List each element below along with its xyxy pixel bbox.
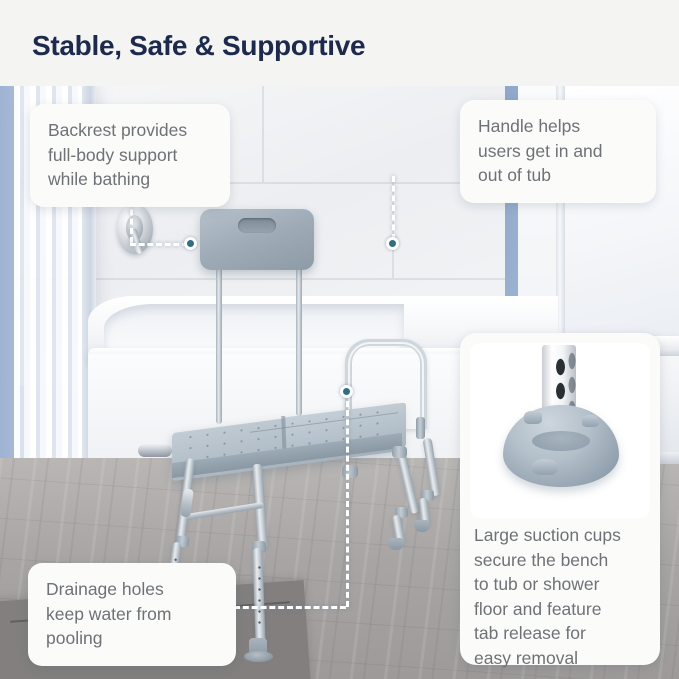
tile-seam bbox=[262, 86, 264, 182]
callout-suction-line-3: to tub or shower bbox=[474, 572, 650, 597]
callout-backrest[interactable]: Backrest provides full-body support whil… bbox=[30, 104, 230, 207]
callout-suction-line-5: tab release for bbox=[474, 621, 650, 646]
tub-overflow-plate bbox=[138, 444, 172, 457]
rubber-foot-pad bbox=[244, 651, 273, 662]
callout-handle-line-3: out of tub bbox=[478, 163, 638, 188]
marker-dot-handle bbox=[386, 237, 399, 250]
callout-drainage-line-1: Drainage holes bbox=[46, 577, 218, 602]
rubber-foot bbox=[414, 520, 430, 532]
callout-suction-line-6: easy removal bbox=[474, 646, 650, 671]
suction-cup-collar bbox=[532, 431, 590, 451]
suction-release-tab-right bbox=[582, 415, 599, 427]
marker-dot-drainage bbox=[340, 385, 353, 398]
callout-handle-line-2: users get in and bbox=[478, 139, 638, 164]
callout-backrest-line-1: Backrest provides bbox=[48, 118, 212, 143]
callout-suction-cups[interactable]: Large suction cups secure the bench to t… bbox=[460, 333, 660, 665]
leg-height-holes bbox=[257, 562, 261, 628]
connector-drainage-vertical bbox=[346, 392, 349, 607]
seat-mount-knob bbox=[342, 465, 358, 478]
infographic-page: Stable, Safe & Supportive bbox=[0, 0, 679, 679]
connector-backrest-horizontal bbox=[130, 243, 188, 246]
rubber-foot bbox=[388, 538, 404, 550]
callout-handle[interactable]: Handle helps users get in and out of tub bbox=[460, 100, 656, 203]
marker-dot-backrest bbox=[184, 237, 197, 250]
page-title: Stable, Safe & Supportive bbox=[32, 30, 365, 62]
connector-drainage-horizontal bbox=[234, 606, 346, 609]
header-band: Stable, Safe & Supportive bbox=[0, 0, 679, 86]
callout-drainage-line-2: keep water from bbox=[46, 602, 218, 627]
handle-mount-right bbox=[416, 417, 425, 439]
callout-drainage[interactable]: Drainage holes keep water from pooling bbox=[28, 563, 236, 666]
leg-height-holes-secondary bbox=[567, 349, 576, 409]
connector-handle-vertical bbox=[392, 176, 395, 240]
callout-suction-line-2: secure the bench bbox=[474, 548, 650, 573]
callout-suction-line-1: Large suction cups bbox=[474, 523, 650, 548]
callout-drainage-line-3: pooling bbox=[46, 626, 218, 651]
callout-suction-text: Large suction cups secure the bench to t… bbox=[474, 523, 650, 670]
callout-backrest-line-3: while bathing bbox=[48, 167, 212, 192]
backrest-grab-slot bbox=[238, 218, 276, 233]
callout-suction-line-4: floor and feature bbox=[474, 597, 650, 622]
suction-release-tab-front bbox=[532, 459, 558, 475]
callout-backrest-line-2: full-body support bbox=[48, 143, 212, 168]
callout-handle-line-1: Handle helps bbox=[478, 114, 638, 139]
backrest-post-left bbox=[216, 264, 222, 424]
suction-release-tab-left bbox=[524, 411, 542, 424]
backrest-post-right bbox=[296, 266, 302, 416]
seat-mount-knob bbox=[392, 446, 407, 458]
suction-cup-inset-photo bbox=[470, 343, 650, 518]
